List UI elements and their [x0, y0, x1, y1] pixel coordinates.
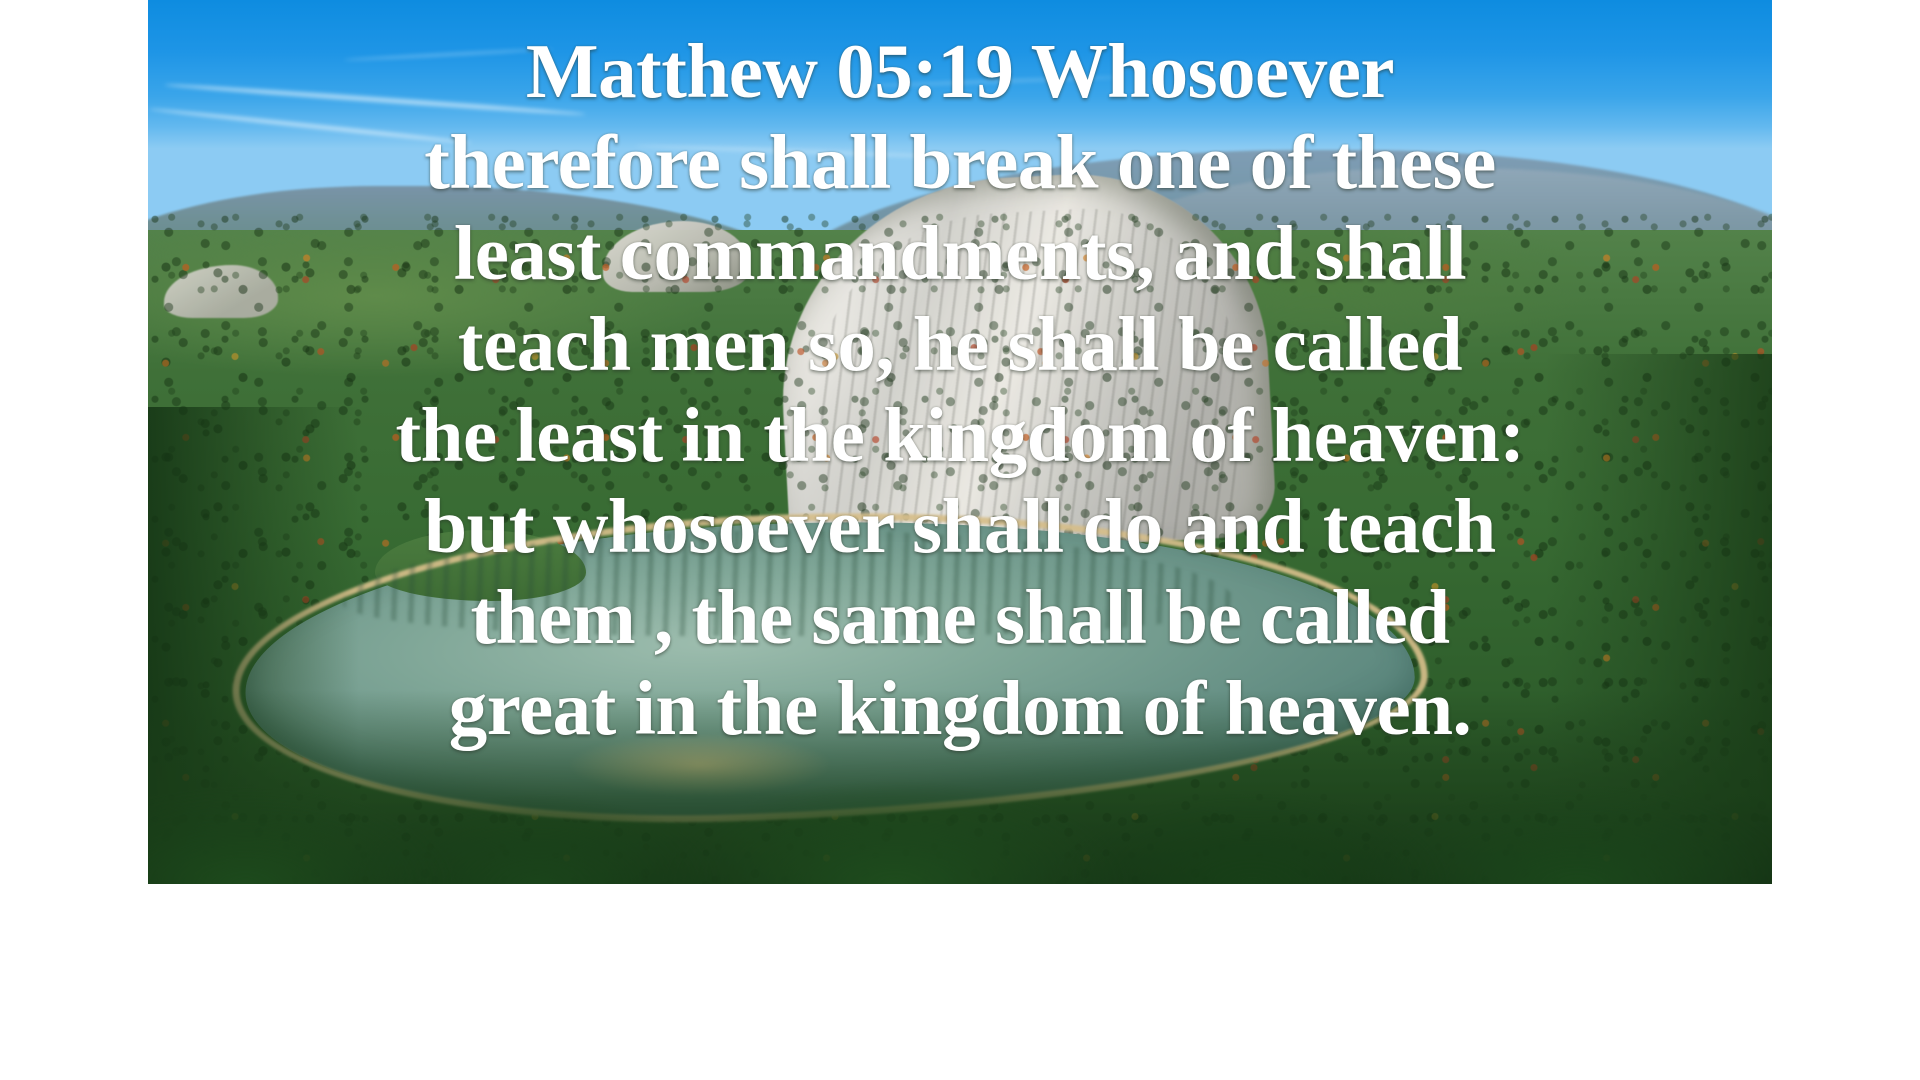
background-photo [148, 0, 1772, 884]
slide-root: Matthew 05:19 Whosoever therefore shall … [0, 0, 1920, 1080]
foreground-treeline [148, 690, 1772, 884]
